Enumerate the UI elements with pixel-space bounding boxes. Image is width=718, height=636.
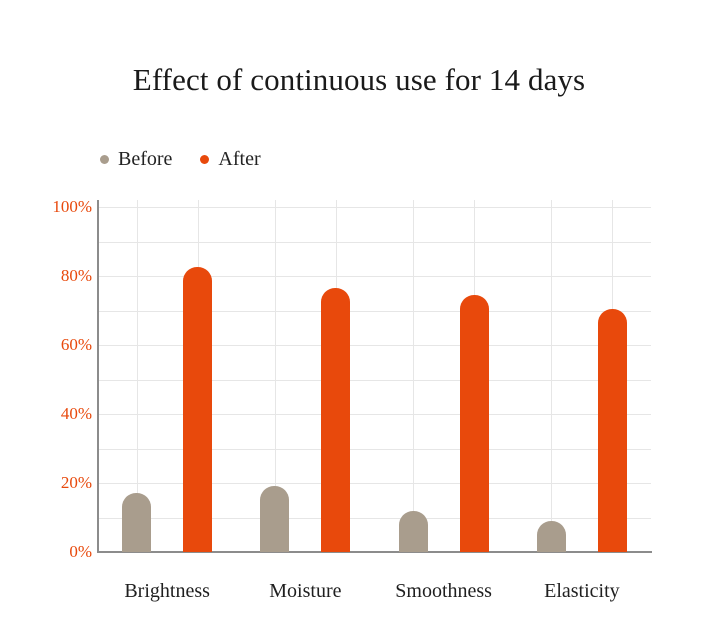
- y-axis-tick-labels: 0%20%40%60%80%100%: [30, 200, 92, 552]
- bar-smoothness-before[interactable]: [399, 511, 428, 552]
- bar-smoothness-after[interactable]: [460, 295, 489, 552]
- y-axis-tick-label: 80%: [32, 266, 92, 286]
- x-axis-tick-labels: BrightnessMoistureSmoothnessElasticity: [98, 580, 651, 610]
- bar-elasticity-before[interactable]: [537, 521, 566, 552]
- bar-moisture-before[interactable]: [260, 486, 289, 552]
- bars-layer: [98, 200, 651, 552]
- bar-moisture-after[interactable]: [321, 288, 350, 552]
- y-axis-tick-label: 40%: [32, 404, 92, 424]
- x-axis-tick-label-elasticity: Elasticity: [544, 580, 620, 603]
- bar-elasticity-after[interactable]: [598, 309, 627, 552]
- x-axis-tick-label-smoothness: Smoothness: [395, 580, 492, 603]
- y-axis-tick-label: 100%: [32, 197, 92, 217]
- y-axis-tick-label: 20%: [32, 473, 92, 493]
- bar-brightness-before[interactable]: [122, 493, 151, 552]
- chart-canvas: Effect of continuous use for 14 days Bef…: [0, 0, 718, 636]
- bar-brightness-after[interactable]: [183, 267, 212, 552]
- y-axis-tick-label: 60%: [32, 335, 92, 355]
- x-axis-tick-label-moisture: Moisture: [269, 580, 341, 603]
- x-axis-tick-label-brightness: Brightness: [124, 580, 210, 603]
- y-axis-tick-label: 0%: [32, 542, 92, 562]
- plot-region: 0%20%40%60%80%100% BrightnessMoistureSmo…: [0, 0, 718, 636]
